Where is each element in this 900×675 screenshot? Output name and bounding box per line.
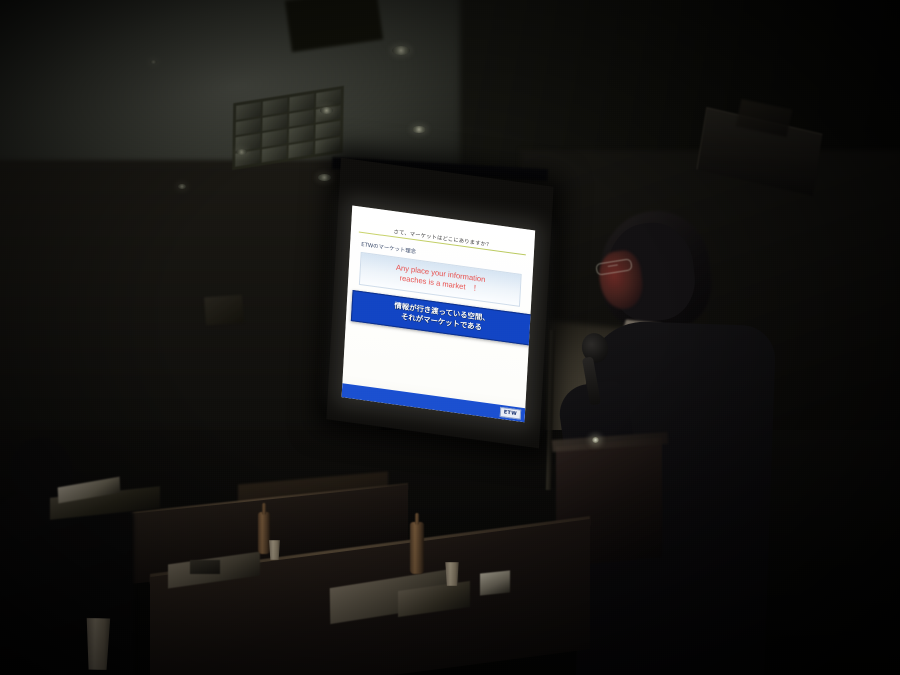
presentation-room-photo: さて、マーケットはどこにありますか？ ETWのマーケット理念 Any place… [0,0,900,675]
downlight-4-icon [320,107,333,114]
wall-speaker [204,295,244,326]
bottle-back [258,512,270,554]
downlight-6-icon [178,184,186,189]
slide: さて、マーケットはどこにありますか？ ETWのマーケット理念 Any place… [342,205,536,422]
tissue-box [480,570,510,595]
projection-screen[interactable]: さて、マーケットはどこにありますか？ ETWのマーケット理念 Any place… [326,158,553,449]
indicator-led-icon [592,437,599,443]
downlight-7-icon [150,60,157,64]
downlight-5-icon [236,149,247,155]
etw-logo: ETW [499,407,521,420]
audience-member-body [0,492,134,675]
downlight-2-icon [412,126,426,133]
downlight-1-icon [392,46,410,55]
screen-surface: さて、マーケットはどこにありますか？ ETWのマーケット理念 Any place… [342,205,536,422]
item-back-dark [190,560,220,574]
downlight-3-icon [318,174,331,181]
slide-body: ETWのマーケット理念 Any place your information r… [342,231,533,408]
bottle-front [410,522,424,574]
